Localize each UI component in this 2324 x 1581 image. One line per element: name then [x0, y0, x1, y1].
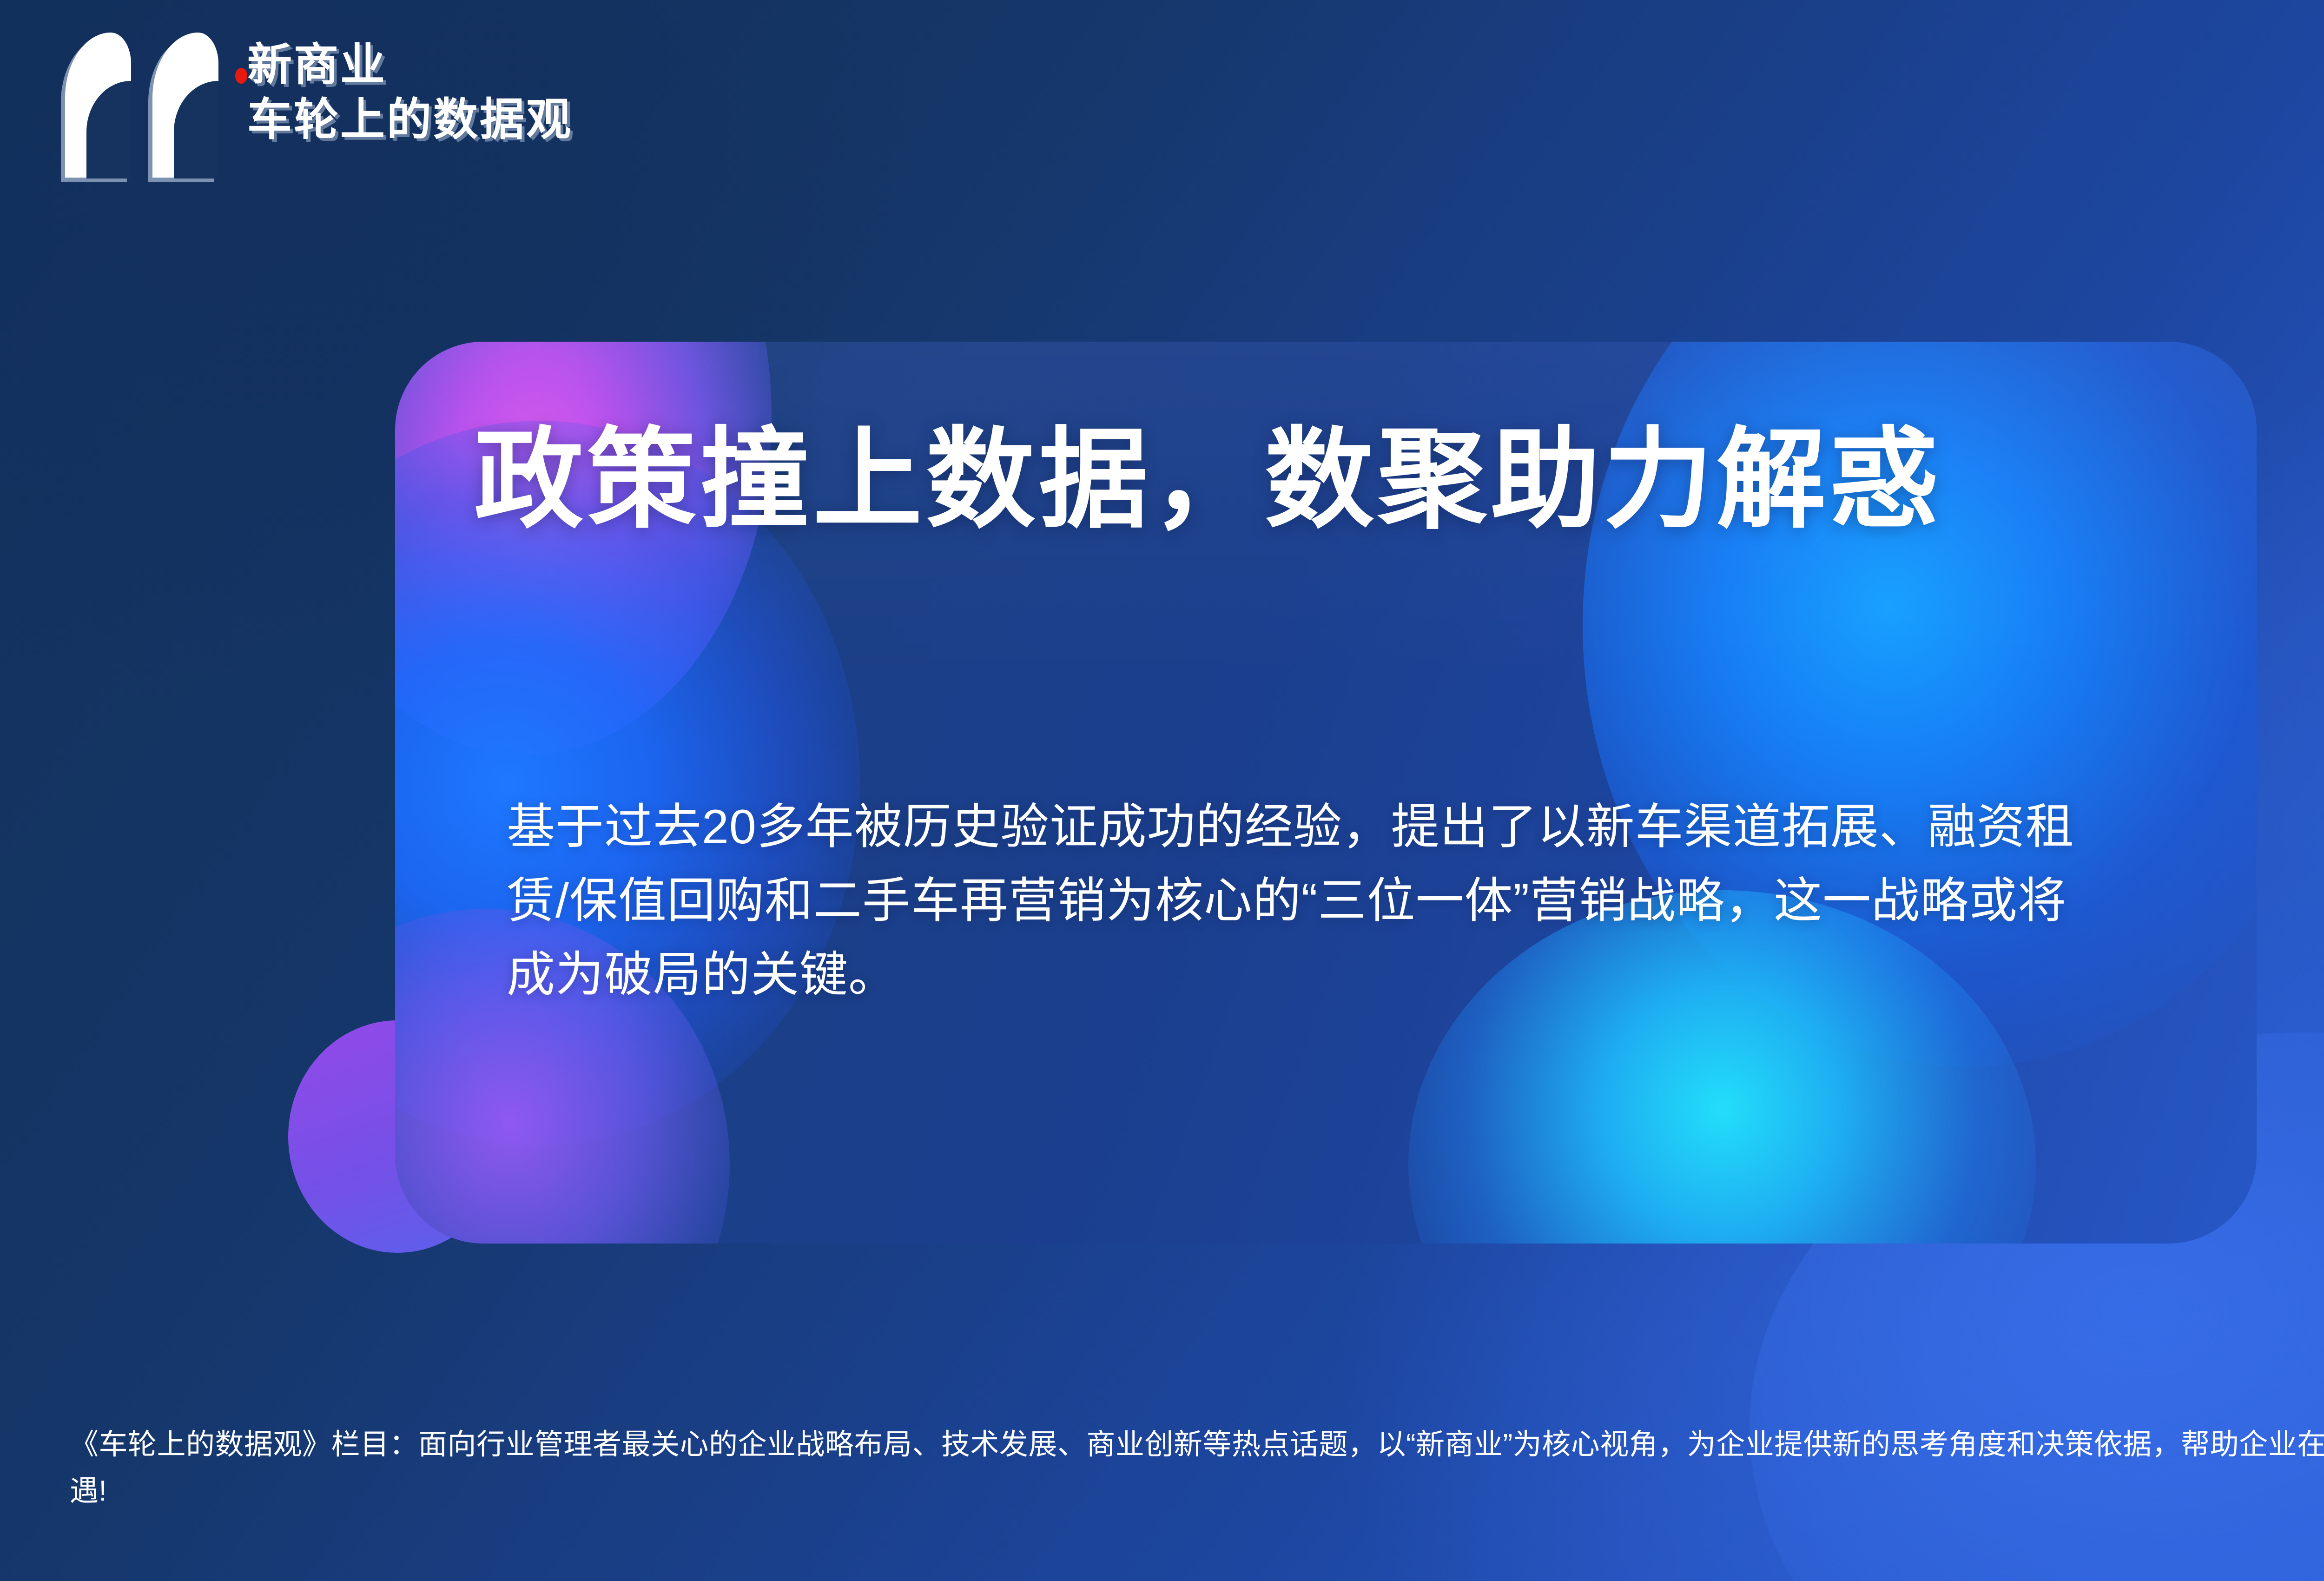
- brand-title-secondary: 车轮上的数据观: [247, 96, 573, 144]
- card-body-text: 基于过去20多年被历史验证成功的经验，提出了以新车渠道拓展、融资租赁/保值回购和…: [507, 790, 2096, 1012]
- brand-text: 新商业 车轮上的数据观: [247, 33, 573, 144]
- gradient-blob-magenta: [395, 342, 772, 755]
- brand-title-primary-label: 新商业: [247, 40, 387, 90]
- brand-lockup: 新商业 车轮上的数据观: [65, 33, 573, 181]
- red-dot-icon: [235, 68, 247, 84]
- poster-canvas: 新商业 车轮上的数据观 政策撞上数据，数聚助力解惑 基于过去20多年被历史验证成…: [0, 0, 2324, 1581]
- hero-card: 政策撞上数据，数聚助力解惑 基于过去20多年被历史验证成功的经验，提出了以新车渠…: [395, 342, 2257, 1244]
- footer-note: 《车轮上的数据观》栏目：面向行业管理者最关心的企业战略布局、技术发展、商业创新等…: [70, 1422, 2324, 1515]
- quotation-mark-icon: [65, 33, 218, 181]
- page-title: 政策撞上数据，数聚助力解惑: [474, 418, 1942, 541]
- brand-title-primary: 新商业: [247, 41, 573, 89]
